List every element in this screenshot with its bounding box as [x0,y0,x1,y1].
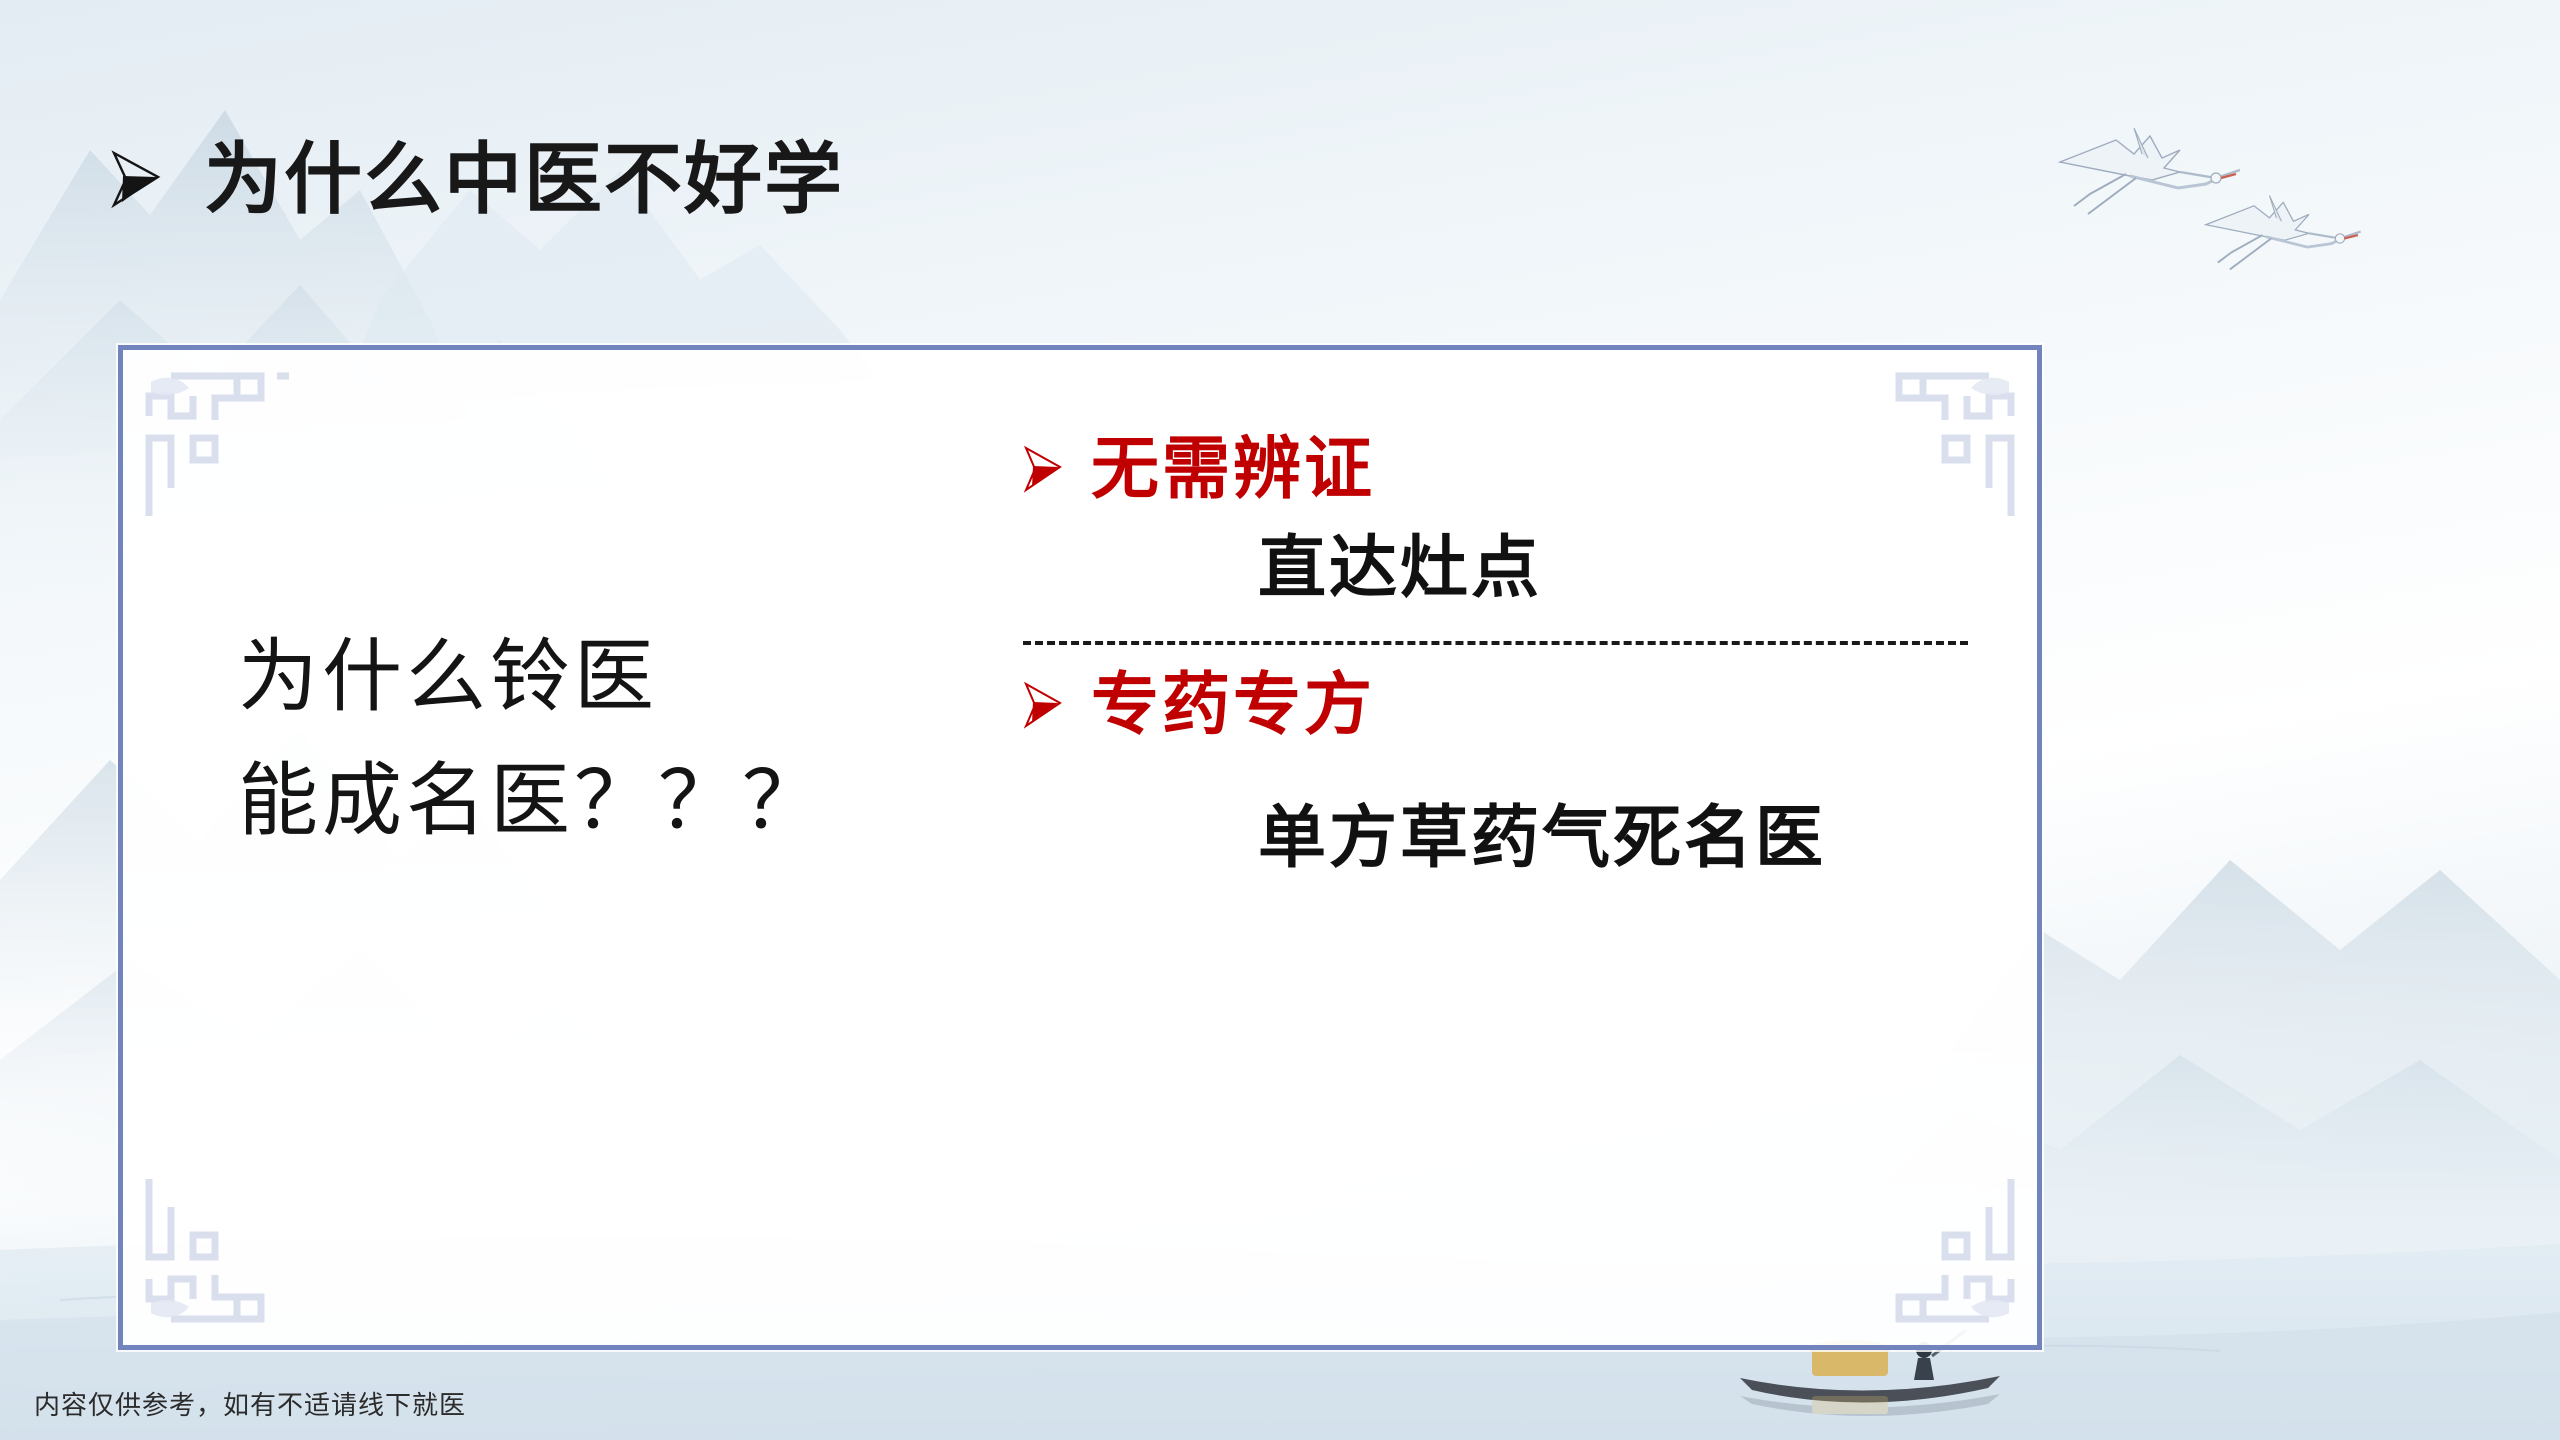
page-title: 为什么中医不好学 [204,140,844,218]
right-answer-column: 无需辨证 直达灶点 专药专方 单方草药气死名医 [1023,435,1982,880]
slide-canvas: 为什么中医不好学 [0,0,2560,1440]
disclaimer-note: 内容仅供参考，如有不适请线下就医 [34,1385,466,1422]
frame-content: 为什么铃医 能成名医？？？ 无需辨证 直达灶点 [123,350,2037,1345]
spacer-2 [1023,739,1982,797]
frame-inner: 为什么铃医 能成名医？？？ 无需辨证 直达灶点 [123,350,2037,1345]
arrow-bullet-icon [1023,681,1063,729]
flying-cranes-icon [2030,110,2470,310]
answer-sub-1: 直达灶点 [1023,529,1982,607]
left-question-column: 为什么铃医 能成名医？？？ [238,615,1028,863]
arrow-bullet-icon [110,149,162,209]
flying-cranes-decoration [2030,110,2470,310]
answer-sub-2: 单方草药气死名医 [1023,797,1982,880]
dashed-divider [1023,641,1968,645]
slide-title: 为什么中医不好学 [110,140,844,218]
arrow-bullet-icon [1023,445,1063,493]
answer-heading-2: 专药专方 [1023,671,1982,739]
left-line-2: 能成名医？？？ [238,739,1028,863]
answer-heading-1: 无需辨证 [1023,435,1982,503]
answer-heading-1-text: 无需辨证 [1091,435,1375,503]
left-line-1: 为什么铃医 [238,615,1028,739]
content-frame: 为什么铃医 能成名医？？？ 无需辨证 直达灶点 [118,345,2042,1350]
answer-heading-2-text: 专药专方 [1091,671,1375,739]
